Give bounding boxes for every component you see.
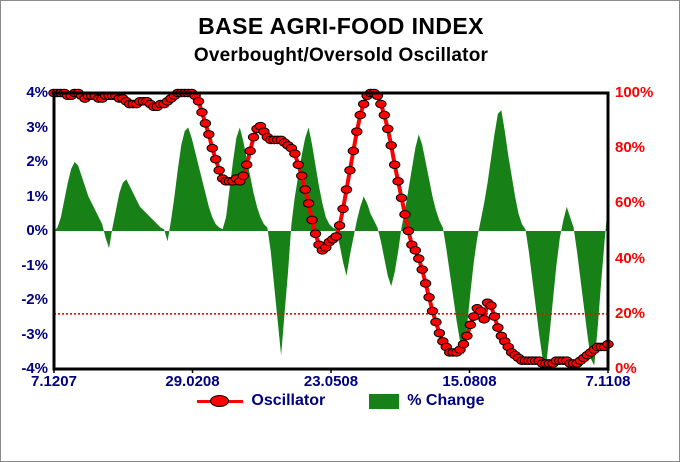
y-right-tick: 20% — [615, 306, 645, 321]
oscillator-marker — [462, 332, 472, 340]
oscillator-line-icon — [197, 394, 243, 408]
legend-item-pct-change: % Change — [369, 393, 484, 409]
x-axis-tick: 15.0808 — [425, 374, 515, 389]
oscillator-marker — [465, 321, 475, 329]
y-right-tick: 100% — [615, 85, 653, 100]
oscillator-marker — [242, 161, 252, 169]
oscillator-marker — [389, 161, 399, 169]
oscillator-marker — [403, 227, 413, 235]
y-left-tick: 0% — [1, 223, 48, 238]
oscillator-marker — [211, 155, 221, 163]
y-left-tick: 4% — [1, 85, 48, 100]
oscillator-marker — [386, 142, 396, 150]
oscillator-marker — [393, 178, 403, 186]
oscillator-marker — [458, 340, 468, 348]
oscillator-marker — [331, 233, 341, 241]
x-axis-tick: 29.0208 — [148, 374, 238, 389]
oscillator-marker — [245, 147, 255, 155]
y-left-tick: 2% — [1, 154, 48, 169]
oscillator-marker — [303, 200, 313, 208]
oscillator-marker — [238, 172, 248, 180]
x-axis-tick: 23.0508 — [286, 374, 376, 389]
y-left-tick: -3% — [1, 327, 48, 342]
y-left-tick: 3% — [1, 120, 48, 135]
oscillator-marker — [410, 247, 420, 255]
y-right-tick: 40% — [615, 251, 645, 266]
y-left-tick: -1% — [1, 258, 48, 273]
oscillator-marker — [358, 100, 368, 108]
oscillator-marker — [434, 329, 444, 337]
y-right-tick: 60% — [615, 195, 645, 210]
oscillator-marker — [355, 111, 365, 119]
legend-label-oscillator: Oscillator — [251, 393, 325, 409]
oscillator-marker — [193, 97, 203, 105]
x-axis-tick: 7.1207 — [9, 374, 99, 389]
oscillator-marker — [290, 150, 300, 158]
chart-legend: Oscillator % Change — [1, 393, 680, 409]
oscillator-marker — [307, 216, 317, 224]
legend-label-pct-change: % Change — [407, 393, 484, 409]
oscillator-marker — [341, 186, 351, 194]
oscillator-marker — [379, 111, 389, 119]
oscillator-marker — [376, 100, 386, 108]
oscillator-marker — [383, 125, 393, 133]
oscillator-marker — [420, 280, 430, 288]
y-right-tick: 80% — [615, 140, 645, 155]
oscillator-marker — [200, 120, 210, 128]
chart-figure: BASE AGRI-FOOD INDEX Overbought/Oversold… — [0, 0, 680, 462]
y-left-tick: -2% — [1, 292, 48, 307]
legend-item-oscillator: Oscillator — [197, 393, 325, 409]
oscillator-marker — [338, 205, 348, 213]
oscillator-marker — [297, 172, 307, 180]
oscillator-marker — [204, 131, 214, 139]
oscillator-marker — [493, 324, 503, 332]
pct-change-swatch-icon — [369, 394, 399, 409]
oscillator-marker — [334, 222, 344, 230]
oscillator-marker — [486, 302, 496, 310]
oscillator-marker — [414, 255, 424, 263]
oscillator-marker — [424, 293, 434, 301]
x-axis-tick: 7.1108 — [563, 374, 653, 389]
oscillator-marker — [197, 109, 207, 117]
oscillator-marker — [417, 266, 427, 274]
oscillator-marker — [475, 307, 485, 315]
oscillator-marker — [352, 128, 362, 136]
oscillator-marker — [427, 307, 437, 315]
oscillator-marker — [489, 313, 499, 321]
oscillator-marker — [214, 166, 224, 174]
oscillator-marker — [248, 133, 258, 141]
oscillator-marker — [400, 211, 410, 219]
y-left-tick: 1% — [1, 189, 48, 204]
oscillator-marker — [431, 318, 441, 326]
oscillator-marker — [348, 147, 358, 155]
oscillator-marker — [300, 186, 310, 194]
oscillator-marker — [345, 166, 355, 174]
oscillator-marker — [293, 161, 303, 169]
oscillator-marker — [396, 194, 406, 202]
oscillator-marker — [310, 230, 320, 238]
oscillator-marker — [479, 316, 489, 324]
oscillator-marker — [207, 144, 217, 152]
